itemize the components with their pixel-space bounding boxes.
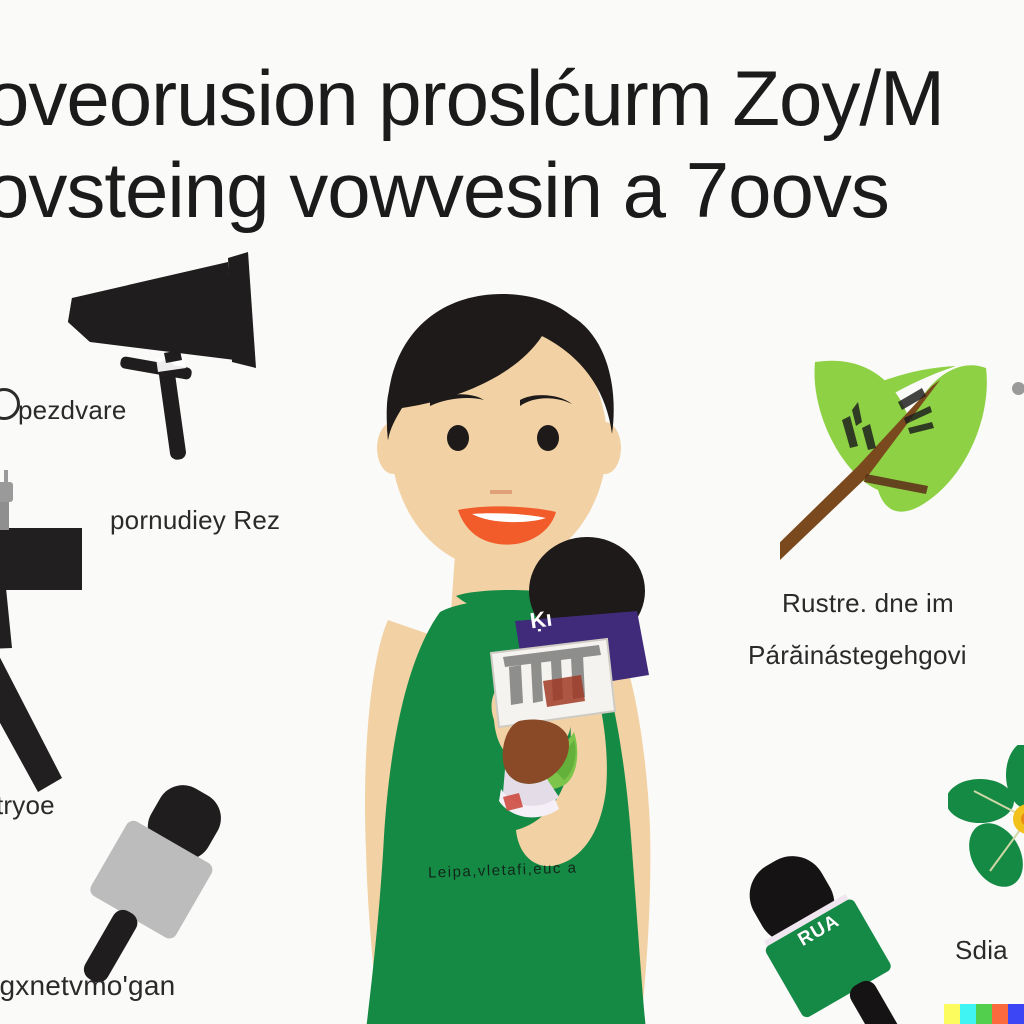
colorbar-swatch-4 xyxy=(992,1004,1008,1024)
caption-right-1: Rustre. dne im xyxy=(782,588,954,619)
colorbar-swatch-5 xyxy=(1008,1004,1024,1024)
held-microphone xyxy=(455,535,675,825)
microphone-icon xyxy=(735,840,965,1024)
microphone-flag-logo: Ḳı xyxy=(528,606,553,635)
microphone-icon xyxy=(40,770,260,990)
video-camera-icon xyxy=(0,470,120,800)
caption-community: pornudiey Rez xyxy=(110,505,280,536)
caption-hardware: pezdvare xyxy=(18,395,127,426)
colorbar-swatch-2 xyxy=(960,1004,976,1024)
headline-line-2: ovsteing vowvesin a 7oovs xyxy=(0,144,1024,236)
caption-bottom-left: rgxnetvmo'gan xyxy=(0,970,175,1002)
caption-right-2: Párăinástegehgovi xyxy=(748,640,967,671)
colorbar-swatch-3 xyxy=(976,1004,992,1024)
dalle-signature-colorbar xyxy=(944,1004,1024,1024)
caption-sdia: Sdia xyxy=(955,935,1008,966)
illustration-canvas: oveorusion proslćurm Zoy/M ovsteing vowv… xyxy=(0,0,1024,1024)
bullet-icon xyxy=(0,388,20,420)
leaf-icon xyxy=(780,350,1024,560)
colorbar-swatch-1 xyxy=(944,1004,960,1024)
headline-text: oveorusion proslćurm Zoy/M ovsteing vowv… xyxy=(0,52,1024,236)
megaphone-icon xyxy=(60,250,290,460)
dot-icon xyxy=(1012,382,1024,395)
caption-tryoe: tryoe xyxy=(0,790,55,821)
headline-line-1: oveorusion proslćurm Zoy/M xyxy=(0,54,944,142)
